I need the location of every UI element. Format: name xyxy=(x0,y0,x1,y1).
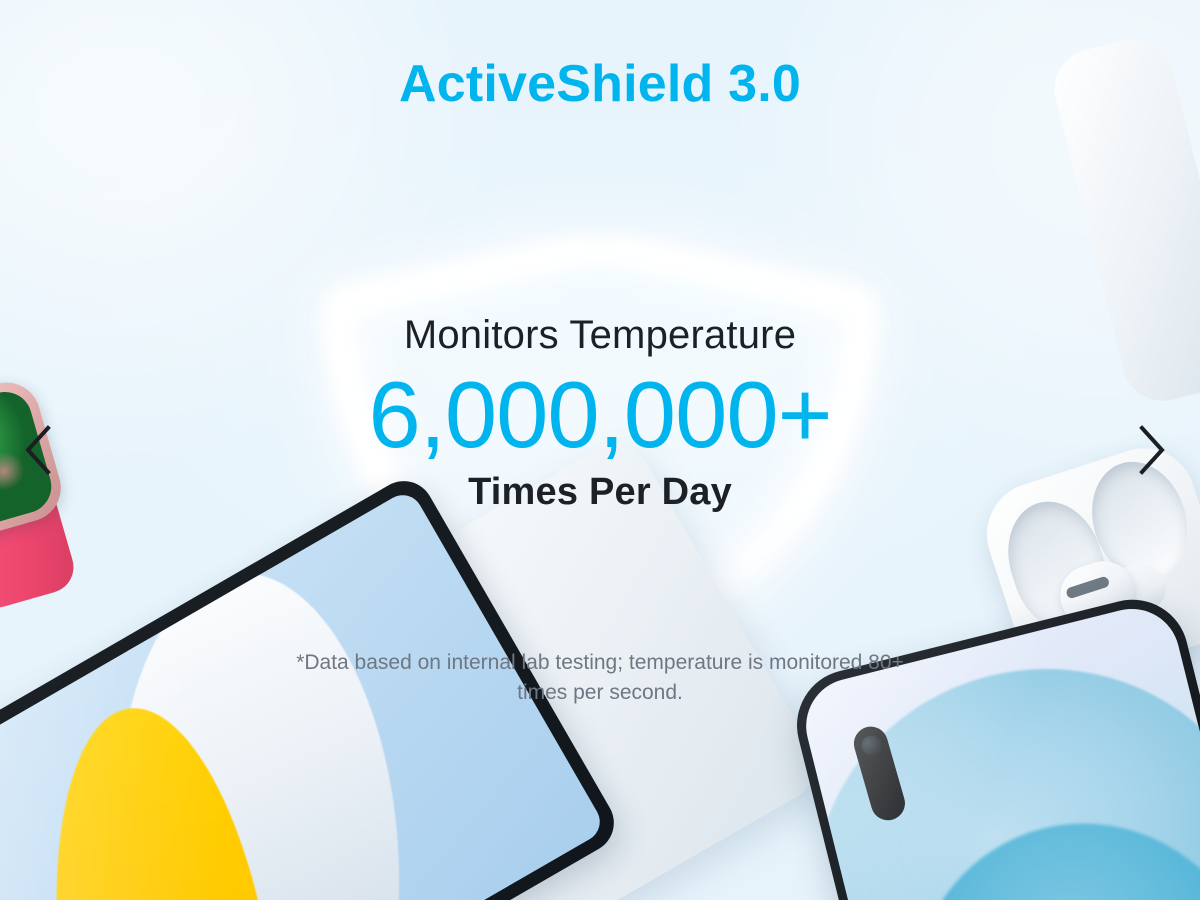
stat-headline: Monitors Temperature xyxy=(0,312,1200,358)
stat-block: Monitors Temperature 6,000,000+ Times Pe… xyxy=(0,312,1200,514)
phone-body xyxy=(785,588,1200,900)
carousel-next-button[interactable] xyxy=(1122,410,1182,490)
footnote-disclaimer: *Data based on internal lab testing; tem… xyxy=(280,648,920,709)
chevron-right-icon xyxy=(1135,423,1169,477)
smartphone-prop xyxy=(785,588,1200,900)
phone-screen xyxy=(796,599,1200,900)
ambient-glow-left xyxy=(0,0,380,340)
promo-banner: ActiveShield 3.0 Monitors Temperature 6,… xyxy=(0,0,1200,900)
carousel-prev-button[interactable] xyxy=(8,410,68,490)
stat-subline: Times Per Day xyxy=(0,471,1200,515)
front-camera-lens-icon xyxy=(859,733,884,758)
earbud-speaker-slot xyxy=(1065,575,1110,599)
page-title: ActiveShield 3.0 xyxy=(0,56,1200,113)
chevron-left-icon xyxy=(21,423,55,477)
stat-big-number: 6,000,000+ xyxy=(0,366,1200,465)
